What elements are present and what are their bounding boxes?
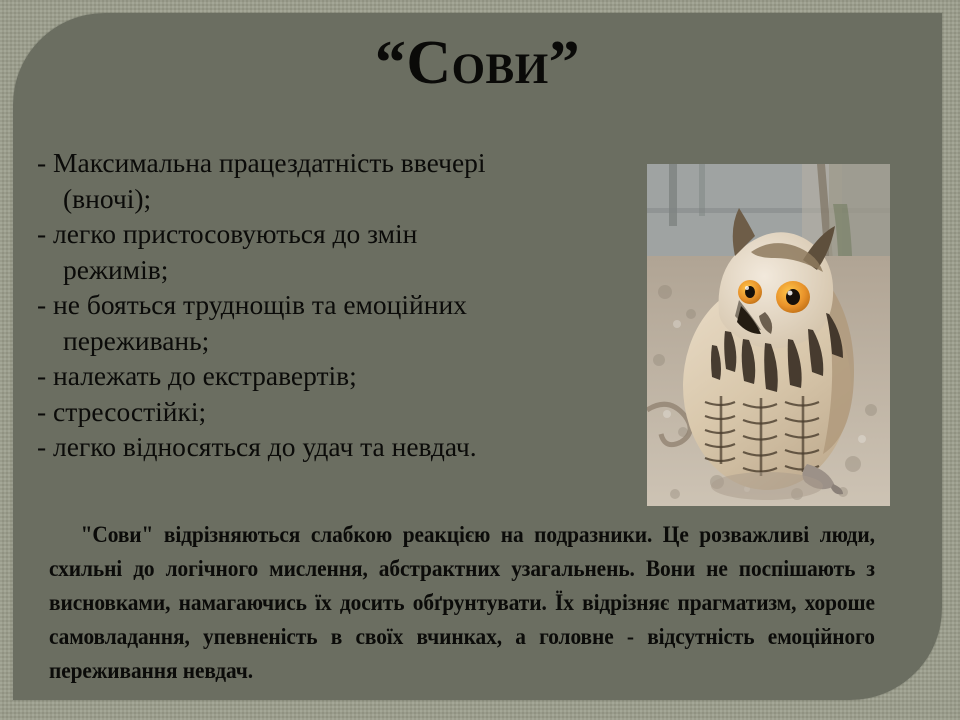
list-item: - Максимальна працездатність ввечері	[37, 145, 627, 181]
list-item: - не бояться труднощів та емоційних	[37, 287, 627, 323]
list-item: переживань;	[37, 323, 627, 359]
page-title: “Cови”	[13, 31, 942, 96]
slide-content-panel: “Cови” - Максимальна працездатність ввеч…	[13, 13, 942, 700]
list-item: - стресостійкі;	[37, 394, 627, 430]
list-item: режимів;	[37, 252, 627, 288]
list-item: - належать до екстравертів;	[37, 358, 627, 394]
eagle-owl-photo	[647, 164, 890, 506]
list-item: - легко пристосовуються до змін	[37, 216, 627, 252]
summary-paragraph: "Сови" відрізняються слабкою реакцією на…	[49, 518, 875, 688]
list-item: (вночі);	[37, 181, 627, 217]
owl-traits-list: - Максимальна працездатність ввечері (вн…	[37, 145, 627, 465]
list-item: - легко відносяться до удач та невдач.	[37, 429, 627, 465]
